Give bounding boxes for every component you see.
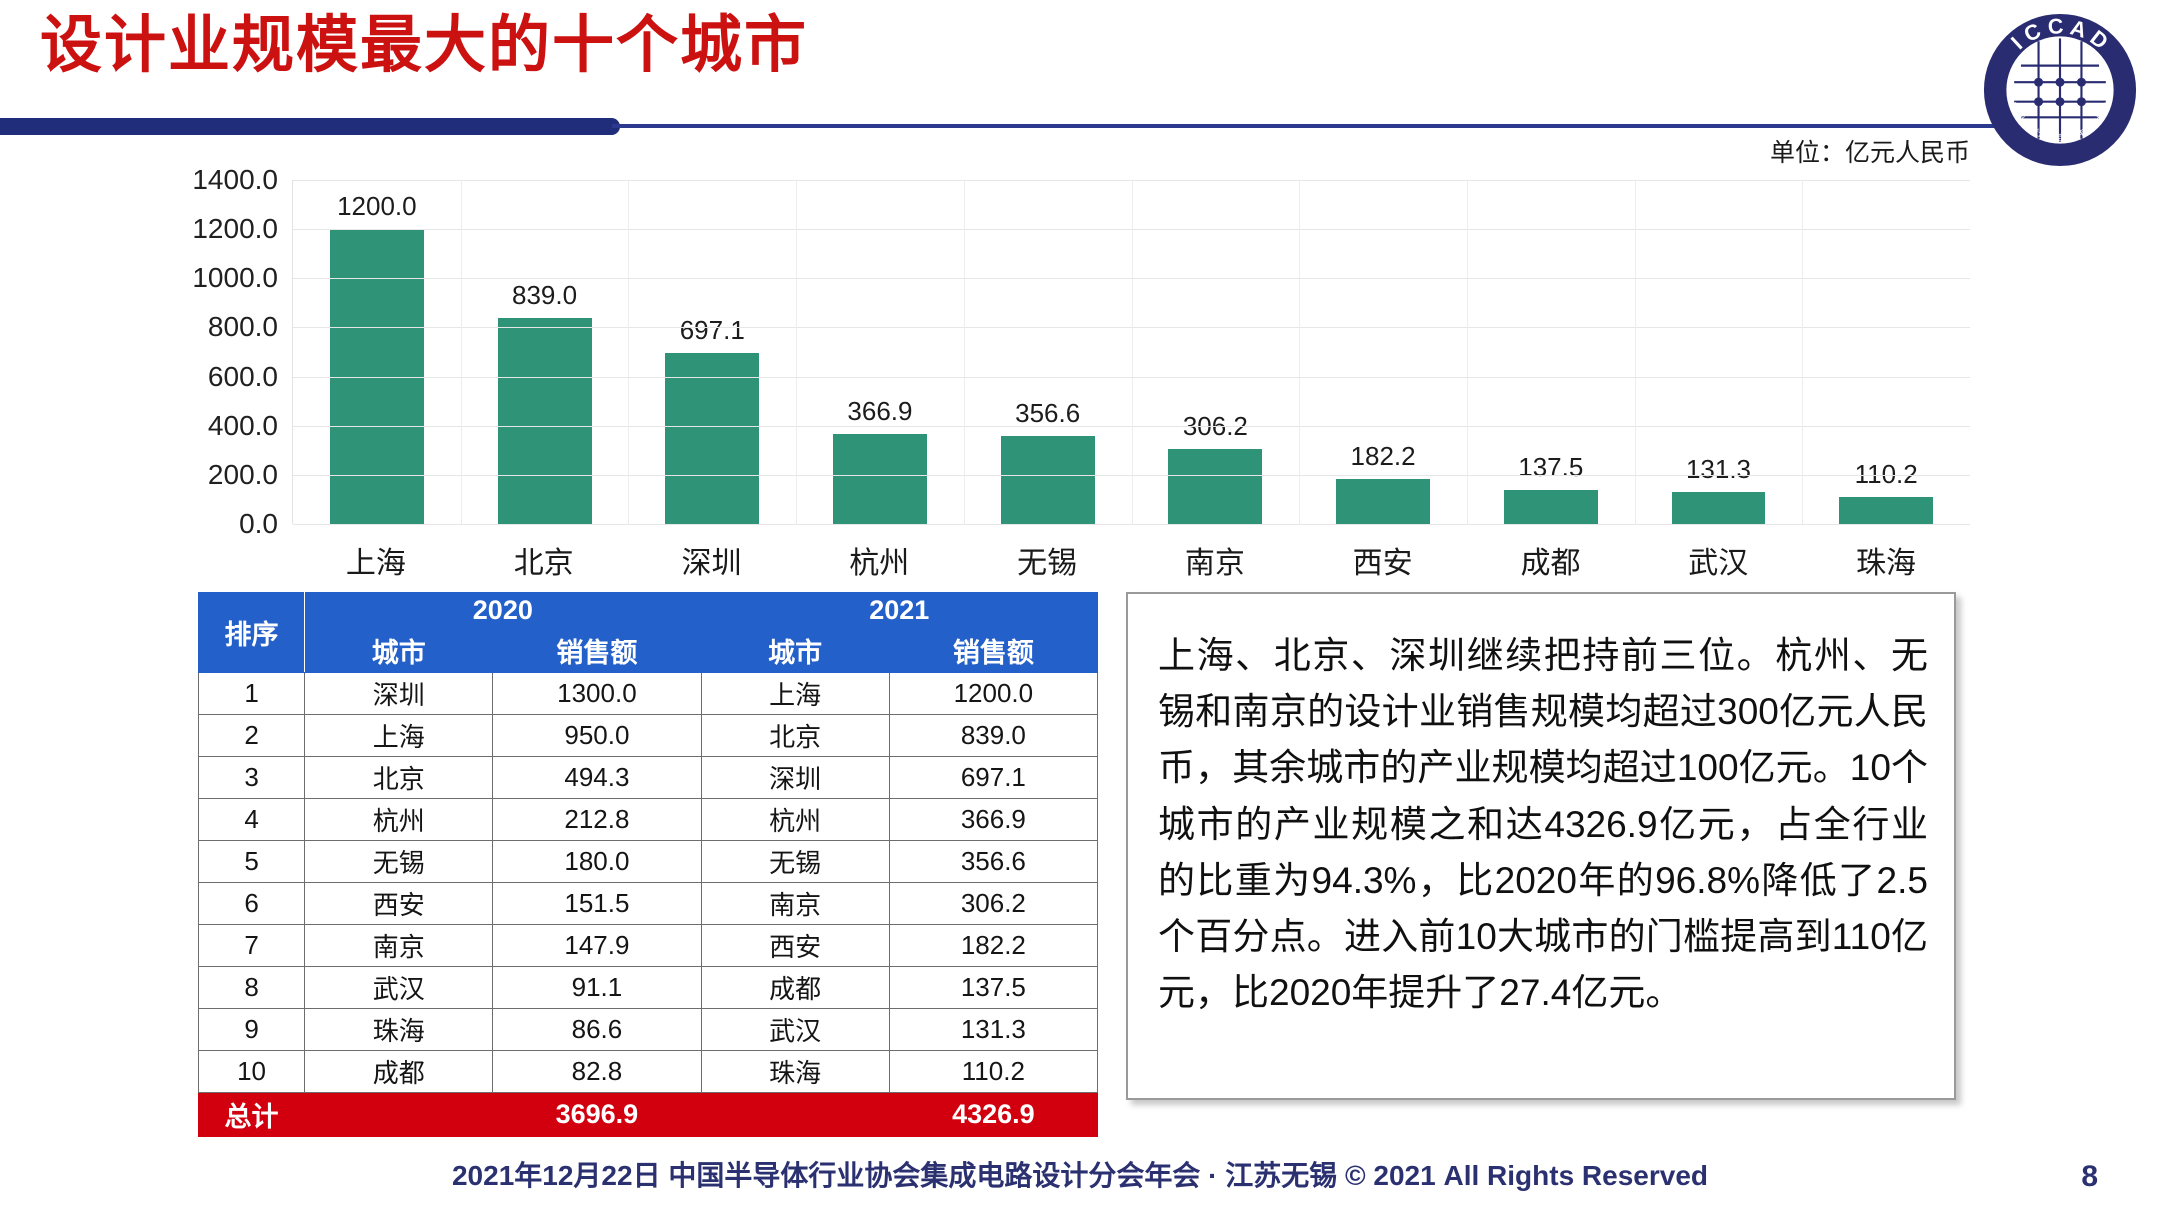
header-year-2021: 2021 bbox=[701, 593, 1097, 629]
cell-sales-2020: 91.1 bbox=[493, 967, 701, 1009]
chart-bar-slot: 697.1 bbox=[628, 180, 796, 524]
table-row: 7南京147.9西安182.2 bbox=[199, 925, 1098, 967]
chart-bar-slot: 182.2 bbox=[1299, 180, 1467, 524]
chart-vertical-gridline bbox=[1132, 180, 1133, 524]
cell-sales-2021: 110.2 bbox=[889, 1051, 1097, 1093]
chart-bar-value-label: 697.1 bbox=[628, 315, 796, 346]
cell-total-sales-2020: 3696.9 bbox=[493, 1093, 701, 1137]
footer-text: 2021年12月22日 中国半导体行业协会集成电路设计分会年会 · 江苏无锡 ©… bbox=[0, 1154, 2160, 1194]
chart-bar-value-label: 839.0 bbox=[461, 280, 629, 311]
chart-y-tick: 0.0 bbox=[239, 508, 278, 540]
chart-vertical-gridline bbox=[964, 180, 965, 524]
table-row: 10成都82.8珠海110.2 bbox=[199, 1051, 1098, 1093]
cell-sales-2020: 151.5 bbox=[493, 883, 701, 925]
cell-rank: 8 bbox=[199, 967, 305, 1009]
chart-bar bbox=[1504, 490, 1598, 524]
cell-sales-2020: 82.8 bbox=[493, 1051, 701, 1093]
chart-y-tick: 1000.0 bbox=[192, 262, 278, 294]
cell-sales-2021: 182.2 bbox=[889, 925, 1097, 967]
cell-city-2020: 珠海 bbox=[305, 1009, 493, 1051]
cell-city-2020: 北京 bbox=[305, 757, 493, 799]
chart-y-tick: 200.0 bbox=[208, 459, 278, 491]
cell-city-2020: 成都 bbox=[305, 1051, 493, 1093]
header-city-2021: 城市 bbox=[701, 629, 889, 673]
table-row: 5无锡180.0无锡356.6 bbox=[199, 841, 1098, 883]
cell-sales-2021: 839.0 bbox=[889, 715, 1097, 757]
chart-x-tick: 杭州 bbox=[795, 538, 963, 582]
chart-vertical-gridline bbox=[628, 180, 629, 524]
table-row: 3北京494.3深圳697.1 bbox=[199, 757, 1098, 799]
chart-bar-slot: 137.5 bbox=[1467, 180, 1635, 524]
cell-city-2021: 武汉 bbox=[701, 1009, 889, 1051]
chart-bar-slot: 1200.0 bbox=[293, 180, 461, 524]
cell-city-2020: 无锡 bbox=[305, 841, 493, 883]
cell-city-2021: 成都 bbox=[701, 967, 889, 1009]
cell-rank: 5 bbox=[199, 841, 305, 883]
chart-bar bbox=[1672, 492, 1766, 524]
chart-vertical-gridline bbox=[461, 180, 462, 524]
chart-bar bbox=[1336, 479, 1430, 524]
cell-sales-2021: 1200.0 bbox=[889, 673, 1097, 715]
chart-plot-area: 1200.0839.0697.1366.9356.6306.2182.2137.… bbox=[292, 180, 1970, 524]
chart-x-tick: 西安 bbox=[1299, 538, 1467, 582]
chart-bar-value-label: 131.3 bbox=[1635, 454, 1803, 485]
commentary-box: 上海、北京、深圳继续把持前三位。杭州、无锡和南京的设计业销售规模均超过300亿元… bbox=[1126, 592, 1956, 1100]
table-header-row-2: 城市 销售额 城市 销售额 bbox=[199, 629, 1098, 673]
cell-sales-2020: 147.9 bbox=[493, 925, 701, 967]
header-year-2020: 2020 bbox=[305, 593, 701, 629]
cell-city-2020: 武汉 bbox=[305, 967, 493, 1009]
cell-total-label: 总计 bbox=[199, 1093, 305, 1137]
table-row: 9珠海86.6武汉131.3 bbox=[199, 1009, 1098, 1051]
chart-bar bbox=[498, 318, 592, 524]
table-total-row: 总计3696.94326.9 bbox=[199, 1093, 1098, 1137]
chart-y-tick: 1400.0 bbox=[192, 164, 278, 196]
cell-rank: 9 bbox=[199, 1009, 305, 1051]
cell-city-2021: 珠海 bbox=[701, 1051, 889, 1093]
header-sales-2021: 销售额 bbox=[889, 629, 1097, 673]
chart-bar bbox=[1839, 497, 1933, 524]
title-divider-thick bbox=[0, 118, 620, 135]
cell-city-2020: 杭州 bbox=[305, 799, 493, 841]
cell-city-2020: 深圳 bbox=[305, 673, 493, 715]
chart-bar-slot: 131.3 bbox=[1635, 180, 1803, 524]
chart-x-tick: 北京 bbox=[460, 538, 628, 582]
city-ranking-table-wrap: 排序 2020 2021 城市 销售额 城市 销售额 1深圳1300.0上海12… bbox=[198, 592, 1098, 1137]
cell-city-2021: 西安 bbox=[701, 925, 889, 967]
chart-bar-value-label: 1200.0 bbox=[293, 191, 461, 222]
cell-city-2020: 南京 bbox=[305, 925, 493, 967]
cell-sales-2021: 137.5 bbox=[889, 967, 1097, 1009]
header-city-2020: 城市 bbox=[305, 629, 493, 673]
chart-vertical-gridline bbox=[796, 180, 797, 524]
cell-rank: 3 bbox=[199, 757, 305, 799]
chart-vertical-gridline bbox=[1635, 180, 1636, 524]
chart-vertical-gridline bbox=[1299, 180, 1300, 524]
chart-x-tick: 珠海 bbox=[1802, 538, 1970, 582]
city-sales-bar-chart: 0.0200.0400.0600.0800.01000.01200.01400.… bbox=[160, 160, 1970, 580]
cell-total-city-2021 bbox=[701, 1093, 889, 1137]
table-head: 排序 2020 2021 城市 销售额 城市 销售额 bbox=[199, 593, 1098, 673]
chart-vertical-gridline bbox=[1467, 180, 1468, 524]
chart-x-tick: 南京 bbox=[1131, 538, 1299, 582]
cell-sales-2020: 950.0 bbox=[493, 715, 701, 757]
cell-city-2021: 无锡 bbox=[701, 841, 889, 883]
cell-rank: 2 bbox=[199, 715, 305, 757]
cell-sales-2021: 131.3 bbox=[889, 1009, 1097, 1051]
cell-rank: 6 bbox=[199, 883, 305, 925]
chart-bar-value-label: 366.9 bbox=[796, 396, 964, 427]
title-divider-thin bbox=[612, 124, 2072, 128]
chart-x-axis: 上海北京深圳杭州无锡南京西安成都武汉珠海 bbox=[292, 538, 1970, 582]
cell-sales-2020: 212.8 bbox=[493, 799, 701, 841]
cell-sales-2021: 697.1 bbox=[889, 757, 1097, 799]
cell-sales-2020: 1300.0 bbox=[493, 673, 701, 715]
chart-bar-slot: 366.9 bbox=[796, 180, 964, 524]
table-row: 6西安151.5南京306.2 bbox=[199, 883, 1098, 925]
commentary-text: 上海、北京、深圳继续把持前三位。杭州、无锡和南京的设计业销售规模均超过300亿元… bbox=[1158, 628, 1928, 1022]
table-row: 2上海950.0北京839.0 bbox=[199, 715, 1098, 757]
header-sales-2020: 销售额 bbox=[493, 629, 701, 673]
cell-rank: 7 bbox=[199, 925, 305, 967]
cell-city-2020: 西安 bbox=[305, 883, 493, 925]
cell-rank: 10 bbox=[199, 1051, 305, 1093]
cell-total-city-2020 bbox=[305, 1093, 493, 1137]
chart-bar-slot: 306.2 bbox=[1132, 180, 1300, 524]
chart-y-tick: 800.0 bbox=[208, 311, 278, 343]
chart-bar-value-label: 182.2 bbox=[1299, 441, 1467, 472]
chart-y-tick: 600.0 bbox=[208, 361, 278, 393]
chart-gridline bbox=[293, 524, 1970, 525]
chart-x-tick: 深圳 bbox=[628, 538, 796, 582]
chart-bar-slot: 839.0 bbox=[461, 180, 629, 524]
cell-rank: 1 bbox=[199, 673, 305, 715]
chart-vertical-gridline bbox=[1802, 180, 1803, 524]
table-body: 1深圳1300.0上海1200.02上海950.0北京839.03北京494.3… bbox=[199, 673, 1098, 1137]
chart-y-axis: 0.0200.0400.0600.0800.01000.01200.01400.… bbox=[160, 160, 288, 524]
chart-bar bbox=[1001, 436, 1095, 524]
cell-city-2021: 上海 bbox=[701, 673, 889, 715]
chart-bar bbox=[665, 353, 759, 524]
table-row: 1深圳1300.0上海1200.0 bbox=[199, 673, 1098, 715]
cell-city-2020: 上海 bbox=[305, 715, 493, 757]
cell-sales-2020: 86.6 bbox=[493, 1009, 701, 1051]
chart-bar-slot: 110.2 bbox=[1802, 180, 1970, 524]
table-row: 8武汉91.1成都137.5 bbox=[199, 967, 1098, 1009]
cell-city-2021: 南京 bbox=[701, 883, 889, 925]
header-rank: 排序 bbox=[199, 593, 305, 673]
table-header-row-1: 排序 2020 2021 bbox=[199, 593, 1098, 629]
cell-sales-2020: 180.0 bbox=[493, 841, 701, 883]
cell-city-2021: 杭州 bbox=[701, 799, 889, 841]
iccad-logo-icon: I C C A D 中国半导体行业协会集成电路设计分会 bbox=[1982, 12, 2138, 168]
table-row: 4杭州212.8杭州366.9 bbox=[199, 799, 1098, 841]
cell-sales-2021: 306.2 bbox=[889, 883, 1097, 925]
cell-sales-2021: 356.6 bbox=[889, 841, 1097, 883]
cell-total-sales-2021: 4326.9 bbox=[889, 1093, 1097, 1137]
cell-city-2021: 北京 bbox=[701, 715, 889, 757]
page-title: 设计业规模最大的十个城市 bbox=[40, 10, 808, 81]
cell-sales-2020: 494.3 bbox=[493, 757, 701, 799]
title-divider bbox=[0, 118, 2070, 140]
chart-y-tick: 1200.0 bbox=[192, 213, 278, 245]
city-ranking-table: 排序 2020 2021 城市 销售额 城市 销售额 1深圳1300.0上海12… bbox=[198, 592, 1098, 1137]
chart-bar bbox=[833, 434, 927, 524]
chart-bar-value-label: 137.5 bbox=[1467, 452, 1635, 483]
chart-x-tick: 武汉 bbox=[1634, 538, 1802, 582]
chart-bar bbox=[1168, 449, 1262, 524]
cell-rank: 4 bbox=[199, 799, 305, 841]
page-number: 8 bbox=[2081, 1160, 2098, 1194]
chart-bar-slot: 356.6 bbox=[964, 180, 1132, 524]
chart-x-tick: 上海 bbox=[292, 538, 460, 582]
chart-x-tick: 成都 bbox=[1467, 538, 1635, 582]
cell-city-2021: 深圳 bbox=[701, 757, 889, 799]
chart-x-tick: 无锡 bbox=[963, 538, 1131, 582]
chart-y-tick: 400.0 bbox=[208, 410, 278, 442]
cell-sales-2021: 366.9 bbox=[889, 799, 1097, 841]
